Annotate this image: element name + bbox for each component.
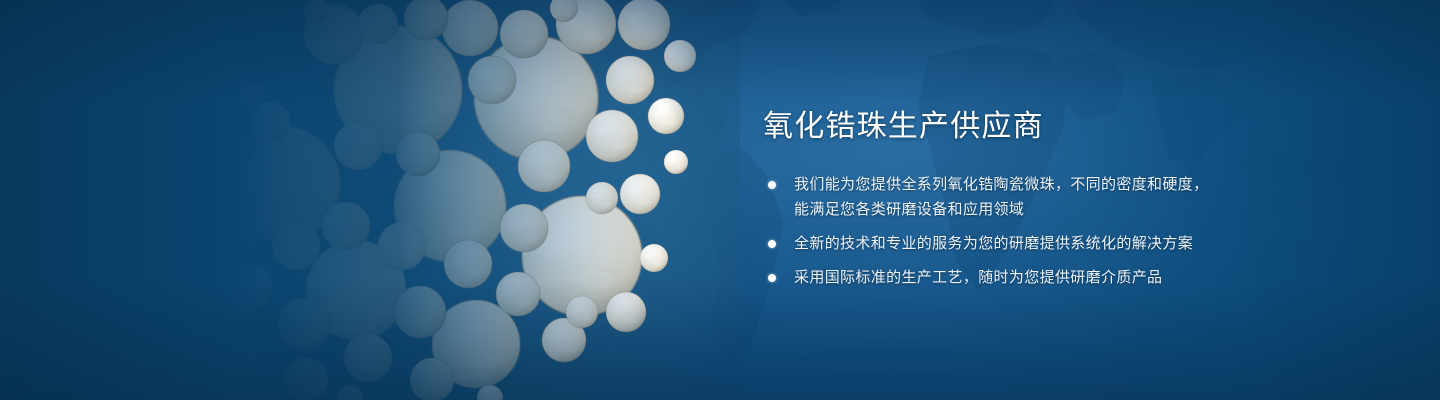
bullet-dot-icon xyxy=(768,181,776,189)
bullet-dot-icon xyxy=(768,240,776,248)
list-item: 采用国际标准的生产工艺，随时为您提供研磨介质产品 xyxy=(763,265,1283,290)
banner-copy: 氧化锆珠生产供应商 我们能为您提供全系列氧化锆陶瓷微珠，不同的密度和硬度， 能满… xyxy=(763,108,1283,290)
bullet-line-1: 全新的技术和专业的服务为您的研磨提供系统化的解决方案 xyxy=(794,235,1193,252)
banner-headline: 氧化锆珠生产供应商 xyxy=(763,108,1283,146)
bullet-line-1: 采用国际标准的生产工艺，随时为您提供研磨介质产品 xyxy=(794,269,1162,286)
list-item: 全新的技术和专业的服务为您的研磨提供系统化的解决方案 xyxy=(763,231,1283,256)
bullet-dot-icon xyxy=(768,274,776,282)
feature-bullet-list: 我们能为您提供全系列氧化锆陶瓷微珠，不同的密度和硬度， 能满足您各类研磨设备和应… xyxy=(763,172,1283,290)
list-item: 我们能为您提供全系列氧化锆陶瓷微珠，不同的密度和硬度， 能满足您各类研磨设备和应… xyxy=(763,172,1283,222)
bullet-line-1: 我们能为您提供全系列氧化锆陶瓷微珠，不同的密度和硬度， xyxy=(794,176,1208,193)
bullet-line-2: 能满足您各类研磨设备和应用领域 xyxy=(794,197,1283,222)
hero-banner: 氧化锆珠生产供应商 我们能为您提供全系列氧化锆陶瓷微珠，不同的密度和硬度， 能满… xyxy=(0,0,1440,400)
